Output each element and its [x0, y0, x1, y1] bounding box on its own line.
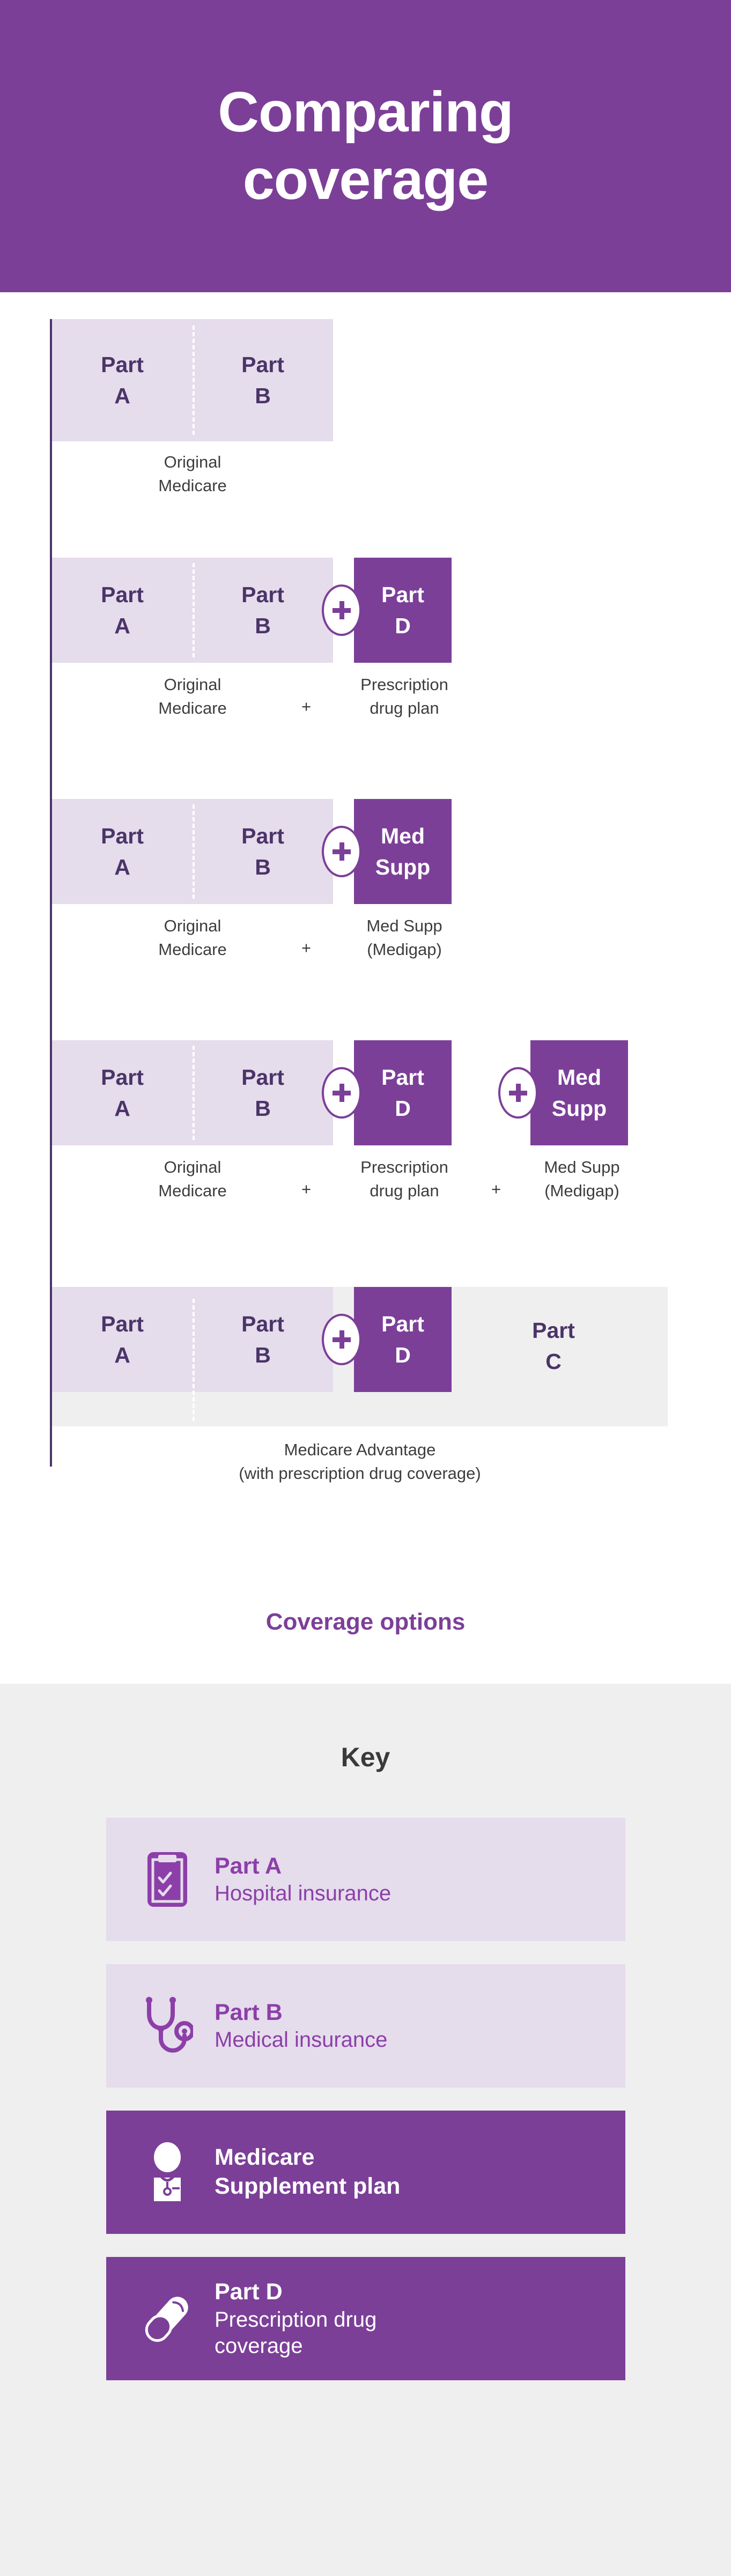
diagram-row-original-plus-partd-plus-medsupp: Part A Part B Part D Med Supp [0, 1040, 731, 1233]
key-item-head: Part A [215, 1852, 391, 1881]
diagram-row-original-plus-medsupp: Part A Part B Med Supp Original Medicare [0, 799, 731, 981]
caption-original-medicare: Original Medicare [52, 450, 333, 498]
caption-prescription-drug-plan: Prescription drug plan [334, 673, 475, 720]
caption-plus-1: + [296, 698, 317, 715]
part-d-block: Part D [354, 558, 452, 663]
key-item-sub: Medical insurance [215, 2027, 387, 2053]
caption-original-medicare: Original Medicare [52, 1156, 333, 1203]
caption-plus-1: + [296, 939, 317, 956]
plus-icon [322, 1067, 361, 1119]
part-b-cell: Part B [193, 319, 333, 441]
ab-divider [193, 1046, 195, 1140]
diagram-row-original-plus-partd: Part A Part B Part D Original Medicare + [0, 558, 731, 740]
med-supp-label: Med Supp [552, 1062, 607, 1124]
coverage-options-heading: Coverage options [0, 1609, 731, 1635]
caption-original-medicare: Original Medicare [52, 914, 333, 961]
part-c-label: Part C [484, 1315, 623, 1377]
part-b-label: Part B [241, 820, 284, 883]
ab-divider [193, 563, 195, 657]
key-item-sub: Prescription drug coverage [215, 2307, 376, 2359]
part-b-label: Part B [241, 349, 284, 411]
part-a-cell: Part A [52, 558, 193, 663]
part-a-cell: Part A [52, 319, 193, 441]
part-b-label: Part B [241, 579, 284, 641]
part-b-cell: Part B [193, 1287, 333, 1392]
key-item-text: Medicare Supplement plan [203, 2143, 400, 2201]
part-b-cell: Part B [193, 558, 333, 663]
key-list: Part A Hospital insurance Part B Medi [106, 1818, 625, 2403]
caption-med-supp-medigap: Med Supp (Medigap) [511, 1156, 653, 1203]
key-item-part-b: Part B Medical insurance [106, 1964, 625, 2088]
ab-divider [193, 804, 195, 899]
key-item-sub: Supplement plan [215, 2172, 400, 2201]
part-d-block: Part D [354, 1287, 452, 1392]
med-supp-block: Med Supp [354, 799, 452, 904]
part-a-label: Part A [101, 1308, 144, 1371]
caption-prescription-drug-plan: Prescription drug plan [334, 1156, 475, 1203]
caption-original-medicare: Original Medicare [52, 673, 333, 720]
part-a-label: Part A [101, 579, 144, 641]
page-header: Comparing coverage [0, 0, 731, 292]
stethoscope-icon [132, 1996, 203, 2056]
diagram-row-medicare-advantage: Part A Part B Part D Part C Medica [0, 1287, 731, 1480]
part-a-label: Part A [101, 820, 144, 883]
part-d-label: Part D [381, 1308, 424, 1371]
pill-capsule-icon [132, 2289, 203, 2349]
key-title: Key [0, 1742, 731, 1773]
doctor-icon [132, 2142, 203, 2202]
key-section: Key Part A Hospital insurance [0, 1684, 731, 2576]
med-supp-block: Med Supp [530, 1040, 628, 1145]
key-item-part-a: Part A Hospital insurance [106, 1818, 625, 1941]
part-b-cell: Part B [193, 799, 333, 904]
part-a-cell: Part A [52, 799, 193, 904]
key-item-head: Medicare [215, 2143, 400, 2172]
key-item-sub-line1: Prescription drug [215, 2308, 376, 2331]
key-item-sub-line2: coverage [215, 2334, 303, 2358]
part-a-cell: Part A [52, 1287, 193, 1392]
plus-icon [322, 1314, 361, 1365]
key-item-text: Part B Medical insurance [203, 1998, 387, 2054]
caption-med-supp-medigap: Med Supp (Medigap) [334, 914, 475, 961]
part-d-block: Part D [354, 1040, 452, 1145]
part-b-cell: Part B [193, 1040, 333, 1145]
page-title: Comparing coverage [218, 79, 513, 213]
key-item-text: Part D Prescription drug coverage [203, 2278, 376, 2359]
part-a-cell: Part A [52, 1040, 193, 1145]
part-b-label: Part B [241, 1308, 284, 1371]
key-item-head: Part B [215, 1998, 387, 2027]
diagram-row-original-medicare: Part A Part B Original Medicare [0, 319, 731, 501]
page-title-line2: coverage [218, 146, 513, 213]
plus-icon [322, 584, 361, 636]
key-item-part-d: Part D Prescription drug coverage [106, 2257, 625, 2380]
page-title-line1: Comparing [218, 79, 513, 146]
caption-plus-2: + [485, 1181, 507, 1197]
ab-divider [193, 325, 195, 435]
key-item-sub: Hospital insurance [215, 1881, 391, 1907]
part-b-label: Part B [241, 1062, 284, 1124]
coverage-diagram: Part A Part B Original Medicare Part A [0, 292, 731, 1633]
part-d-label: Part D [381, 579, 424, 641]
med-supp-label: Med Supp [375, 820, 430, 883]
part-a-label: Part A [101, 1062, 144, 1124]
caption-plus-1: + [296, 1181, 317, 1197]
key-item-medicare-supplement-plan: Medicare Supplement plan [106, 2111, 625, 2234]
key-item-head: Part D [215, 2278, 376, 2307]
caption-medicare-advantage: Medicare Advantage (with prescription dr… [52, 1438, 668, 1485]
part-d-label: Part D [381, 1062, 424, 1124]
plus-icon [322, 826, 361, 877]
plus-icon [498, 1067, 538, 1119]
part-a-label: Part A [101, 349, 144, 411]
key-item-text: Part A Hospital insurance [203, 1852, 391, 1907]
clipboard-check-icon [132, 1850, 203, 1909]
ab-divider [193, 1299, 195, 1421]
